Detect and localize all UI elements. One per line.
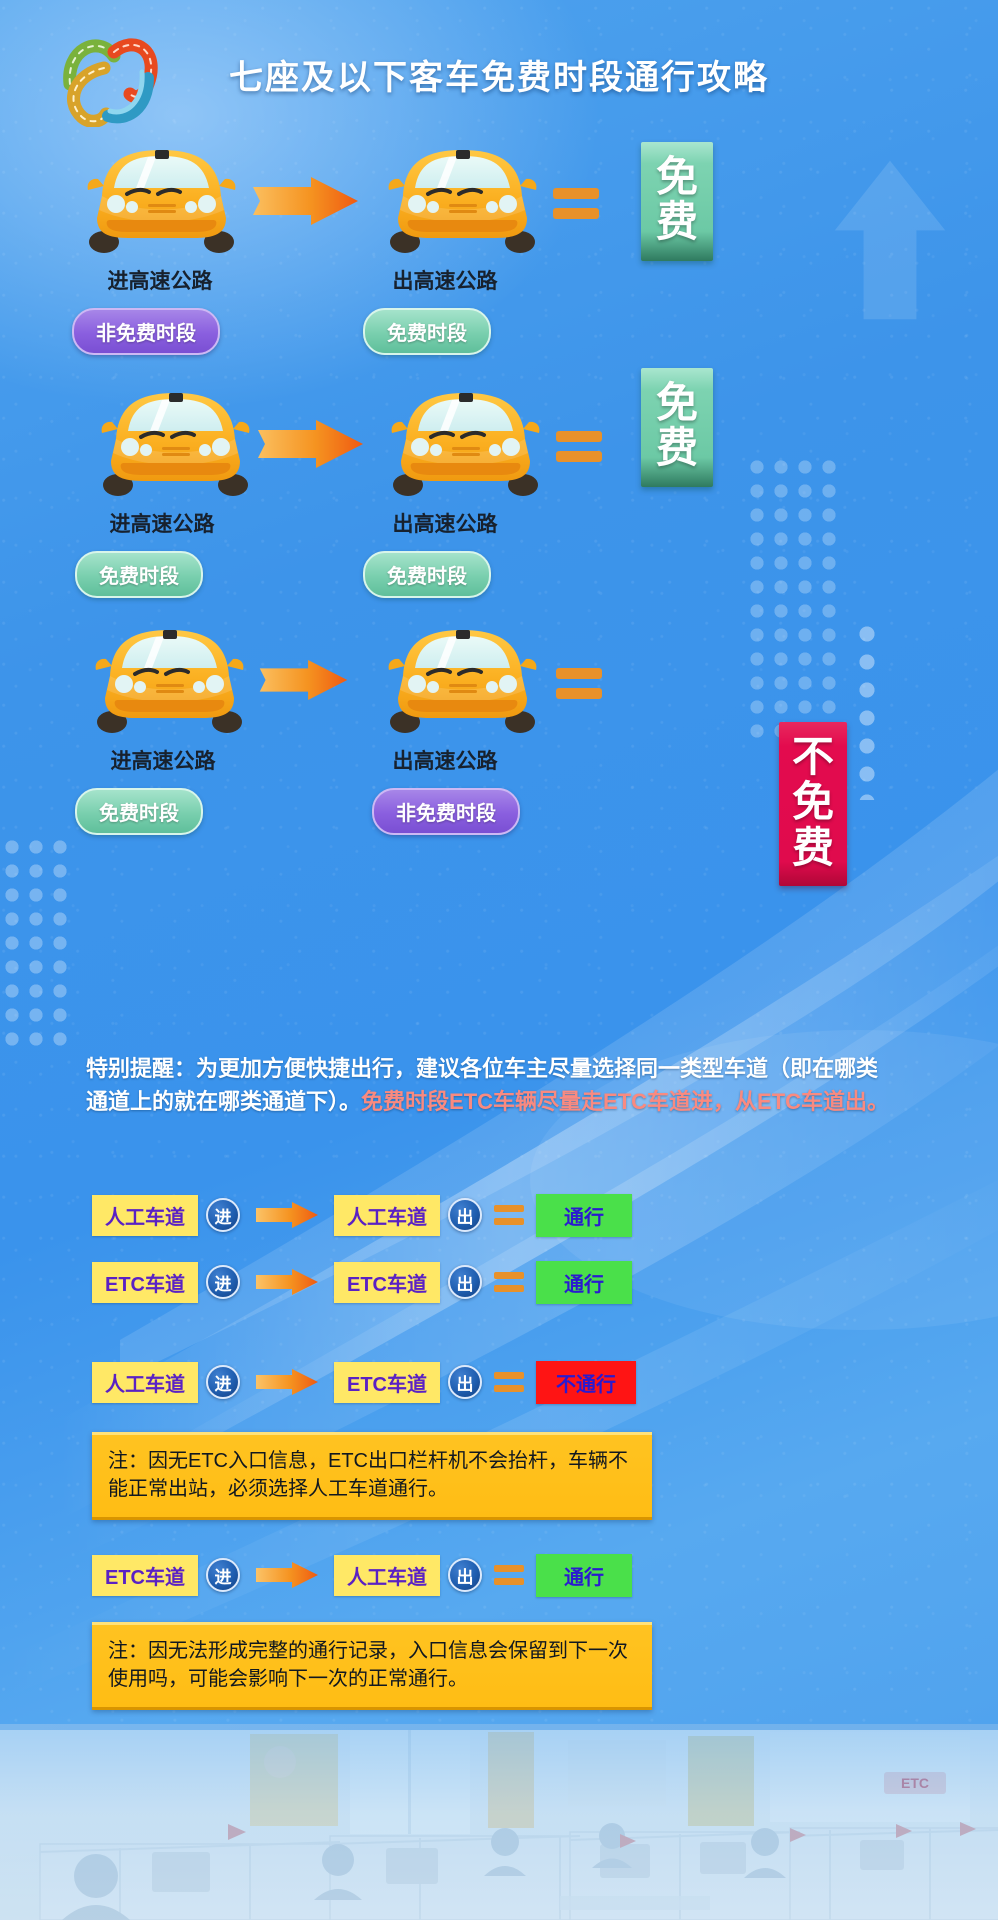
enter-highway-label: 进高速公路 bbox=[48, 745, 278, 775]
result-banner-not-free: 不免费 bbox=[779, 722, 847, 886]
enter-highway-label: 进高速公路 bbox=[45, 265, 275, 295]
entry-marker-icon: 进 bbox=[206, 1365, 240, 1399]
exit-lane-box: 人工车道 bbox=[334, 1555, 440, 1596]
equals-sign-icon bbox=[494, 1272, 524, 1292]
notice-highlight-text: 免费时段ETC车辆尽量走ETC车道进，从ETC车道出。 bbox=[361, 1089, 889, 1114]
special-notice: 特别提醒：为更加方便快捷出行，建议各位车主尽量选择同一类型车道（即在哪类通道上的… bbox=[86, 1052, 896, 1119]
entry-period-badge: 免费时段 bbox=[75, 788, 203, 835]
entry-period-badge: 免费时段 bbox=[75, 551, 203, 598]
lane-rule-row: ETC车道 进 ETC车道 出 通行 bbox=[92, 1262, 632, 1302]
lane-result-box: 通行 bbox=[536, 1261, 632, 1304]
photo-blue-overlay bbox=[0, 1724, 998, 1920]
entry-lane-box: 人工车道 bbox=[92, 1362, 198, 1403]
exit-marker-icon: 出 bbox=[448, 1365, 482, 1399]
enter-highway-label: 进高速公路 bbox=[47, 508, 277, 538]
exit-period-badge: 免费时段 bbox=[363, 308, 491, 355]
equals-sign-icon bbox=[494, 1565, 524, 1585]
car-icon-enter bbox=[82, 612, 257, 737]
exit-lane-box: ETC车道 bbox=[334, 1262, 440, 1303]
entry-lane-box: ETC车道 bbox=[92, 1262, 198, 1303]
exit-lane-box: 人工车道 bbox=[334, 1195, 440, 1236]
exit-highway-label: 出高速公路 bbox=[330, 745, 560, 775]
exit-period-badge: 免费时段 bbox=[363, 551, 491, 598]
result-banner-free: 免费 bbox=[641, 368, 713, 487]
flow-arrow-icon bbox=[256, 1269, 318, 1295]
flow-arrow-icon bbox=[256, 1369, 318, 1395]
flow-arrow-icon bbox=[253, 177, 358, 225]
exit-marker-icon: 出 bbox=[448, 1198, 482, 1232]
lane-result-box: 不通行 bbox=[536, 1361, 636, 1404]
photo-top-divider bbox=[0, 1724, 998, 1730]
car-icon-enter bbox=[74, 132, 249, 257]
lane-result-box: 通行 bbox=[536, 1194, 632, 1237]
decorative-up-arrow-icon bbox=[830, 155, 950, 325]
exit-highway-label: 出高速公路 bbox=[330, 508, 560, 538]
exit-period-badge: 非免费时段 bbox=[372, 788, 520, 835]
car-icon-exit bbox=[375, 612, 550, 737]
lane-rule-row: 人工车道 进 ETC车道 出 不通行 bbox=[92, 1362, 636, 1402]
entry-lane-box: ETC车道 bbox=[92, 1555, 198, 1596]
entry-marker-icon: 进 bbox=[206, 1265, 240, 1299]
entry-lane-box: 人工车道 bbox=[92, 1195, 198, 1236]
equals-sign-icon bbox=[494, 1372, 524, 1392]
entry-marker-icon: 进 bbox=[206, 1198, 240, 1232]
flow-arrow-icon bbox=[256, 1562, 318, 1588]
car-icon-exit bbox=[375, 132, 550, 257]
exit-highway-label: 出高速公路 bbox=[330, 265, 560, 295]
result-banner-free: 免费 bbox=[641, 142, 713, 261]
lane-rule-row: ETC车道 进 人工车道 出 通行 bbox=[92, 1555, 632, 1595]
decorative-dot-grid-left bbox=[0, 835, 75, 1050]
note-box: 注：因无法形成完整的通行记录，入口信息会保留到下一次使用吗，可能会影响下一次的正… bbox=[92, 1622, 652, 1710]
decorative-dot-grid-right bbox=[745, 455, 845, 745]
flow-arrow-icon bbox=[258, 420, 363, 468]
car-icon-exit bbox=[378, 375, 553, 500]
lane-result-box: 通行 bbox=[536, 1554, 632, 1597]
entry-marker-icon: 进 bbox=[206, 1558, 240, 1592]
exit-marker-icon: 出 bbox=[448, 1265, 482, 1299]
decorative-dot-column bbox=[855, 620, 879, 800]
footer-office-photo: ETC bbox=[0, 1724, 998, 1920]
page-header: 七座及以下客车免费时段通行攻略 bbox=[0, 0, 998, 120]
equals-sign-icon bbox=[553, 188, 599, 219]
equals-sign-icon bbox=[494, 1205, 524, 1225]
exit-lane-box: ETC车道 bbox=[334, 1362, 440, 1403]
flow-arrow-icon bbox=[256, 1202, 318, 1228]
equals-sign-icon bbox=[556, 431, 602, 462]
page-title: 七座及以下客车免费时段通行攻略 bbox=[0, 50, 998, 99]
flow-arrow-icon bbox=[256, 660, 351, 700]
entry-period-badge: 非免费时段 bbox=[72, 308, 220, 355]
exit-marker-icon: 出 bbox=[448, 1558, 482, 1592]
lane-rule-row: 人工车道 进 人工车道 出 通行 bbox=[92, 1195, 632, 1235]
equals-sign-icon bbox=[556, 668, 602, 699]
car-icon-enter bbox=[88, 375, 263, 500]
note-box: 注：因无ETC入口信息，ETC出口栏杆机不会抬杆，车辆不能正常出站，必须选择人工… bbox=[92, 1432, 652, 1520]
